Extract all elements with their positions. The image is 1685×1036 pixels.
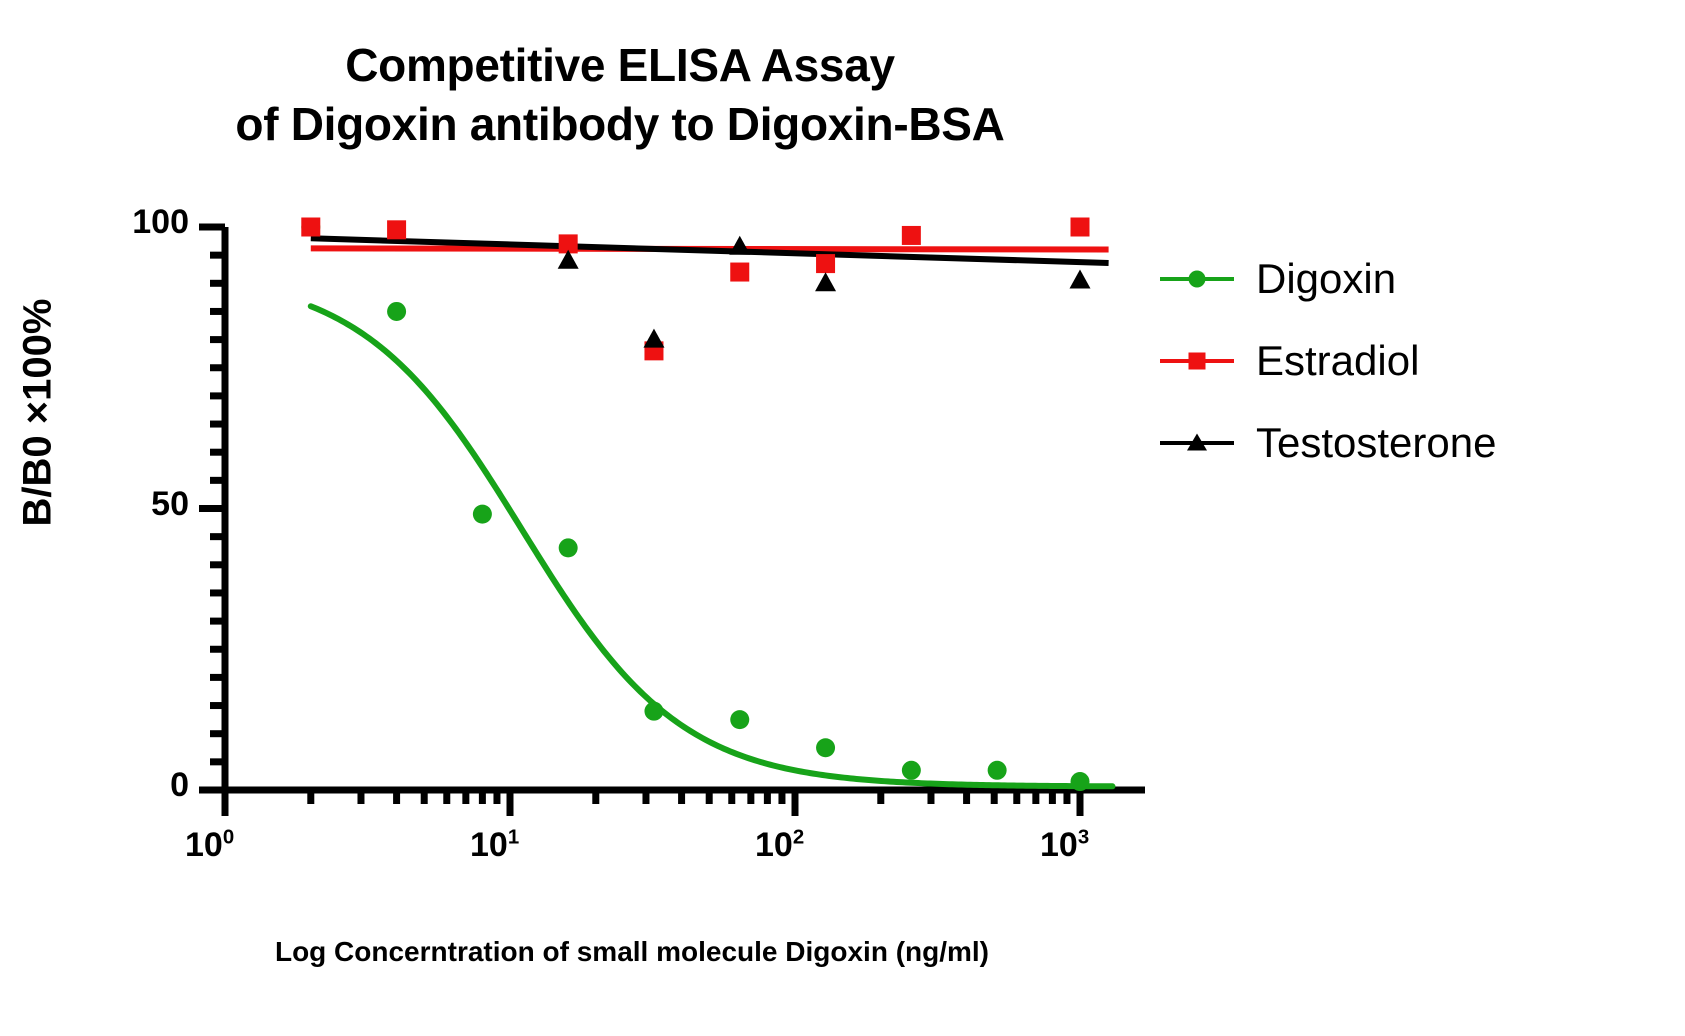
data-point-digoxin bbox=[988, 761, 1007, 780]
y-tick-label: 100 bbox=[132, 203, 189, 242]
axes-group bbox=[199, 227, 1145, 816]
data-point-testosterone bbox=[1070, 269, 1091, 288]
data-point-testosterone bbox=[729, 236, 750, 255]
legend-item-digoxin[interactable]: Digoxin bbox=[1160, 238, 1680, 320]
triangle-marker-icon bbox=[1187, 434, 1207, 451]
data-point-digoxin bbox=[644, 702, 663, 721]
legend-label-testosterone: Testosterone bbox=[1256, 419, 1496, 467]
x-tick-label: 101 bbox=[470, 826, 519, 865]
chart-legend: Digoxin Estradiol Testosterone bbox=[1160, 238, 1680, 484]
x-tick-label: 100 bbox=[185, 826, 234, 865]
y-tick-label: 0 bbox=[170, 766, 189, 805]
legend-label-digoxin: Digoxin bbox=[1256, 255, 1396, 303]
legend-key-digoxin bbox=[1160, 259, 1234, 299]
data-point-estradiol bbox=[902, 226, 921, 245]
x-tick-label: 102 bbox=[755, 826, 804, 865]
circle-marker-icon bbox=[1189, 271, 1206, 288]
x-tick-mantissa: 10 bbox=[755, 826, 793, 864]
data-point-digoxin bbox=[473, 505, 492, 524]
data-point-estradiol bbox=[387, 220, 406, 239]
data-point-digoxin bbox=[559, 538, 578, 557]
x-tick-mantissa: 10 bbox=[470, 826, 508, 864]
data-point-estradiol bbox=[730, 263, 749, 282]
x-tick-exponent: 1 bbox=[508, 827, 519, 849]
data-point-digoxin bbox=[730, 710, 749, 729]
data-point-digoxin bbox=[902, 761, 921, 780]
plot-svg bbox=[0, 0, 1685, 1036]
series-group bbox=[301, 218, 1112, 792]
data-point-digoxin bbox=[816, 738, 835, 757]
figure-canvas: Competitive ELISA Assay of Digoxin antib… bbox=[0, 0, 1685, 1036]
legend-key-estradiol bbox=[1160, 341, 1234, 381]
legend-label-estradiol: Estradiol bbox=[1256, 337, 1419, 385]
square-marker-icon bbox=[1189, 353, 1206, 370]
legend-item-testosterone[interactable]: Testosterone bbox=[1160, 402, 1680, 484]
data-point-digoxin bbox=[1071, 772, 1090, 791]
digoxin-fit-curve bbox=[311, 306, 1113, 786]
data-point-testosterone bbox=[643, 329, 664, 348]
data-point-testosterone bbox=[815, 272, 836, 291]
x-tick-exponent: 0 bbox=[223, 827, 234, 849]
y-axis-label: B/B0 ×100% bbox=[16, 263, 61, 563]
legend-key-testosterone bbox=[1160, 423, 1234, 463]
data-point-estradiol bbox=[816, 254, 835, 273]
data-point-digoxin bbox=[387, 302, 406, 321]
data-point-estradiol bbox=[1071, 218, 1090, 237]
x-tick-mantissa: 10 bbox=[1040, 826, 1078, 864]
x-tick-exponent: 2 bbox=[793, 827, 804, 849]
plot-area bbox=[0, 0, 1685, 1036]
x-tick-label: 103 bbox=[1040, 826, 1089, 865]
y-tick-label: 50 bbox=[151, 485, 189, 524]
x-tick-exponent: 3 bbox=[1078, 827, 1089, 849]
data-point-estradiol bbox=[301, 218, 320, 237]
x-tick-mantissa: 10 bbox=[185, 826, 223, 864]
legend-item-estradiol[interactable]: Estradiol bbox=[1160, 320, 1680, 402]
x-axis-label: Log Concerntration of small molecule Dig… bbox=[172, 936, 1092, 968]
